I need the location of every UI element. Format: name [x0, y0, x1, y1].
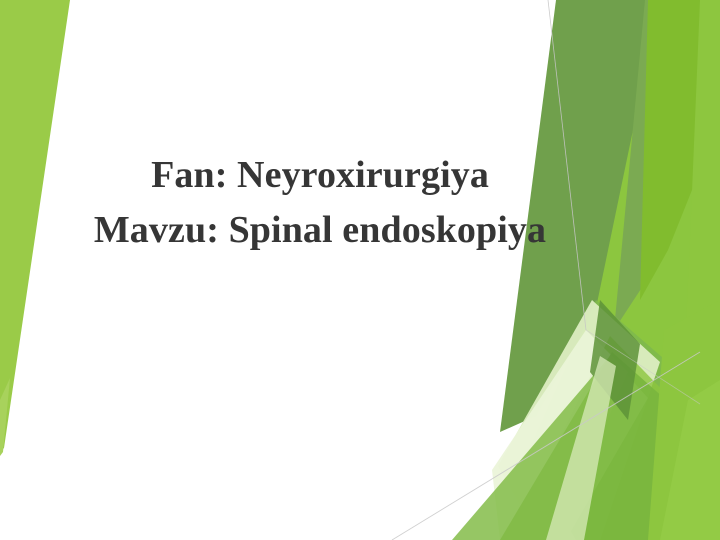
mid-green-bottom-sweep	[500, 352, 700, 540]
pale-green-facet-mid	[540, 336, 676, 540]
far-right-bright-column	[676, 0, 720, 540]
mid-green-bottom-sweep-2	[452, 356, 648, 540]
bright-lower-right-column-2	[660, 380, 720, 540]
right-bright-green-panel	[560, 0, 720, 540]
dark-green-secondary-band	[614, 0, 690, 330]
slide-title-block: Fan: Neyroxirurgiya Mavzu: Spinal endosk…	[20, 148, 620, 258]
deep-green-accent	[590, 300, 640, 420]
hairline-diagonal-long	[392, 352, 700, 540]
presentation-slide: Fan: Neyroxirurgiya Mavzu: Spinal endosk…	[0, 0, 720, 540]
title-line-topic: Mavzu: Spinal endoskopiya	[20, 203, 620, 258]
pale-green-facet-large	[520, 300, 700, 540]
facet-background-decoration	[0, 0, 720, 540]
right-bright-green-band	[596, 0, 720, 540]
pale-green-facet-light	[498, 300, 660, 540]
hairline-mid-short	[586, 330, 700, 404]
bright-lower-right-column	[648, 300, 720, 540]
pale-wedge-bottom	[546, 356, 616, 540]
left-green-wedge-tail	[0, 378, 10, 456]
title-line-subject: Fan: Neyroxirurgiya	[20, 148, 620, 203]
lime-strip-upper	[640, 0, 720, 300]
pale-green-facet-soft	[492, 330, 628, 540]
